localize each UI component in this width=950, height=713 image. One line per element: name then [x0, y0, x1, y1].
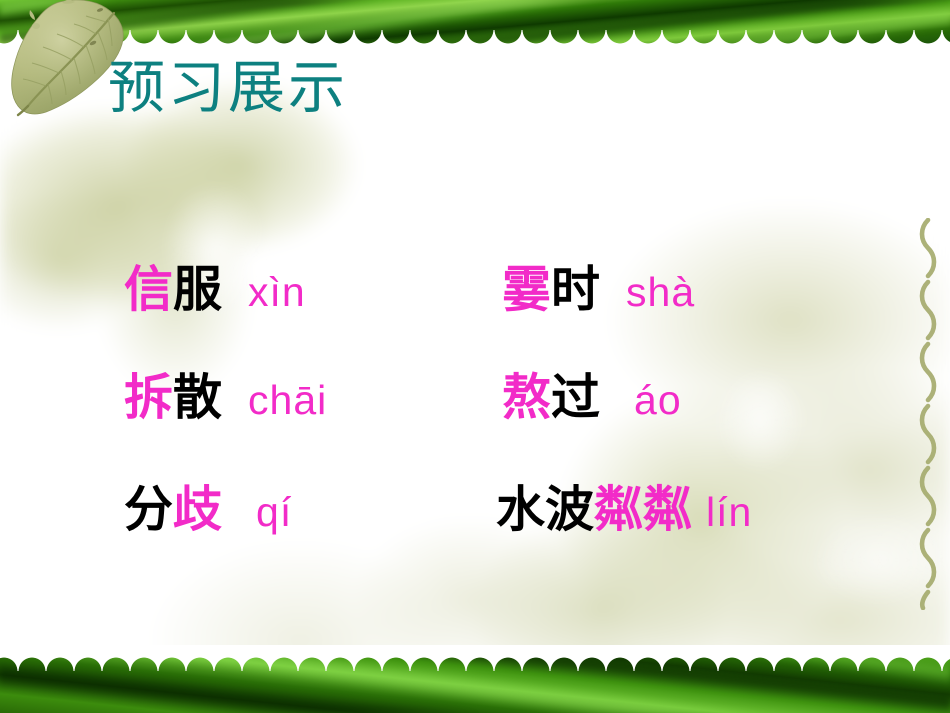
- hanzi-accent: 信: [124, 263, 173, 317]
- vocab-item-xinfu: 信服xìn: [124, 266, 306, 315]
- vocab-item-fenqi: 分歧qí: [124, 486, 292, 535]
- hanzi-accent: 熬: [502, 371, 551, 425]
- pinyin: qí: [256, 489, 292, 535]
- hanzi-accent: 歧: [173, 483, 222, 537]
- vocabulary-grid: 信服xìn 拆散chāi 分歧qí 霎时shà 熬过áo 水波粼粼lín: [0, 0, 950, 713]
- pinyin: lín: [706, 489, 752, 535]
- pinyin: áo: [634, 377, 682, 423]
- hanzi-plain: 时: [551, 263, 600, 317]
- hanzi-accent: 粼粼: [594, 483, 692, 537]
- pinyin: chāi: [248, 377, 327, 423]
- hanzi-accent: 霎: [502, 263, 551, 317]
- hanzi-plain: 散: [173, 371, 222, 425]
- hanzi-accent: 拆: [124, 371, 173, 425]
- vocab-item-shuibolinlin: 水波粼粼lín: [496, 486, 752, 535]
- presentation-slide: 预习展示 信服xìn 拆散chāi 分歧qí 霎时shà 熬过áo 水波粼粼lí…: [0, 0, 950, 713]
- vocab-item-aoguo: 熬过áo: [502, 374, 682, 423]
- hanzi-plain: 水波: [496, 483, 594, 537]
- vocab-item-chaisan: 拆散chāi: [124, 374, 327, 423]
- pinyin: xìn: [248, 269, 306, 315]
- hanzi-plain: 服: [173, 263, 222, 317]
- hanzi-plain: 过: [551, 371, 600, 425]
- hanzi-plain: 分: [124, 483, 173, 537]
- vocab-item-shashi: 霎时shà: [502, 266, 695, 315]
- pinyin: shà: [626, 269, 695, 315]
